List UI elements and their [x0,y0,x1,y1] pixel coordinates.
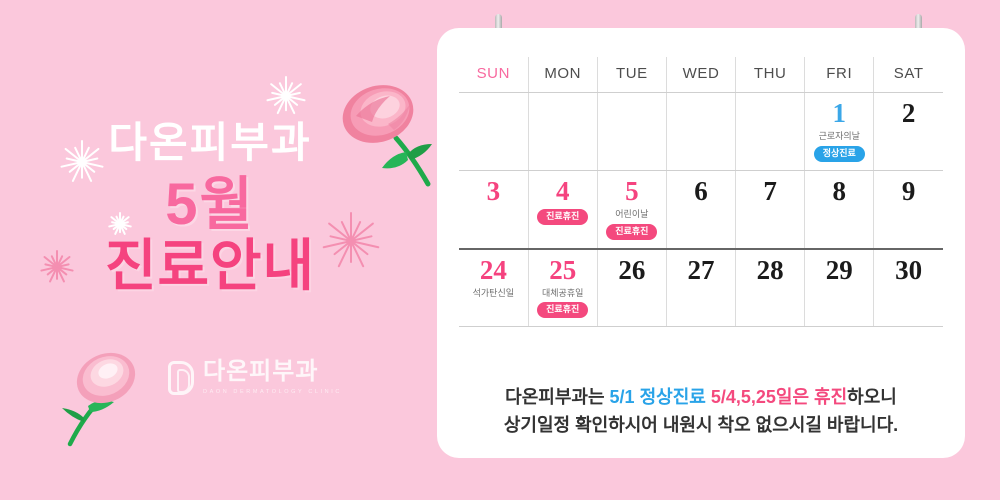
calendar-day-empty [528,93,597,171]
day-holiday-label: 석가탄신일 [459,289,528,299]
calendar-day-3[interactable]: 3 [459,171,528,249]
calendar-day-30[interactable]: 30 [874,249,943,327]
calendar-card: SUNMONTUEWEDTHUFRISAT 1근로자의날정상진료234진료휴진5… [437,28,965,458]
day-number: 29 [805,257,873,284]
weekday-thu: THU [736,57,805,93]
schedule-note: 다온피부과는 5/1 정상진료 5/4,5,25일은 휴진하오니 상기일정 확인… [459,384,943,440]
clinic-logo: 다온피부과 DAON DERMATOLOGY CLINIC [168,360,342,395]
month-title: 5월 [0,172,420,239]
logo-text: 다온피부과 DAON DERMATOLOGY CLINIC [203,360,342,395]
title-block: 다온피부과 5월 진료안내 [0,120,420,296]
calendar-day-1[interactable]: 1근로자의날정상진료 [805,93,874,171]
calendar-day-6[interactable]: 6 [666,171,735,249]
day-number: 8 [805,178,873,205]
calendar-day-5[interactable]: 5어린이날진료휴진 [597,171,666,249]
calendar-week-row: 24석가탄신일25대체공휴일진료휴진2627282930 [459,249,943,327]
calendar-day-empty [666,93,735,171]
d-monogram-icon [168,361,194,395]
weekday-fri: FRI [805,57,874,93]
weekday-mon: MON [528,57,597,93]
calendar-day-24[interactable]: 24석가탄신일 [459,249,528,327]
day-number: 5 [598,178,666,205]
day-number: 6 [667,178,735,205]
day-number: 1 [805,100,873,127]
day-number: 26 [598,257,666,284]
carnation-bud [44,344,144,454]
poster-stage: 다온피부과 5월 진료안내 다온피부과 DAON DERMATOLOGY CLI… [0,0,1000,500]
calendar-day-29[interactable]: 29 [805,249,874,327]
day-holiday-label: 근로자의날 [805,132,873,142]
calendar-day-empty [459,93,528,171]
status-badge: 정상진료 [814,146,865,162]
weekday-header-row: SUNMONTUEWEDTHUFRISAT [459,57,943,93]
calendar-day-8[interactable]: 8 [805,171,874,249]
status-badge: 진료휴진 [606,224,657,240]
weekday-tue: TUE [597,57,666,93]
logo-tagline: DAON DERMATOLOGY CLINIC [203,389,342,395]
calendar: SUNMONTUEWEDTHUFRISAT 1근로자의날정상진료234진료휴진5… [459,57,943,327]
note-text-tail: 하오니 [847,387,897,407]
calendar-day-9[interactable]: 9 [874,171,943,249]
status-badge: 진료휴진 [537,209,588,225]
guide-title: 진료안내 [0,235,420,297]
calendar-week-row: 1근로자의날정상진료2 [459,93,943,171]
note-highlight-open: 5/1 정상진료 [610,387,706,407]
status-badge: 진료휴진 [537,302,588,318]
weekday-sat: SAT [874,57,943,93]
day-number: 30 [874,257,943,284]
day-number: 9 [874,178,943,205]
day-holiday-label: 어린이날 [598,210,666,220]
logo-name: 다온피부과 [203,360,342,384]
day-number: 27 [667,257,735,284]
calendar-day-4[interactable]: 4진료휴진 [528,171,597,249]
note-highlight-closed: 5/4,5,25일은 휴진 [711,387,847,407]
calendar-week-row: 34진료휴진5어린이날진료휴진6789 [459,171,943,249]
day-number: 7 [736,178,804,205]
day-number: 3 [459,178,528,205]
day-number: 2 [874,100,943,127]
note-line-1: 다온피부과는 5/1 정상진료 5/4,5,25일은 휴진하오니 [459,384,943,412]
clinic-name-title: 다온피부과 [0,120,420,166]
note-line-2: 상기일정 확인하시어 내원시 착오 없으시길 바랍니다. [459,412,943,440]
calendar-day-2[interactable]: 2 [874,93,943,171]
weekday-wed: WED [666,57,735,93]
note-text: 다온피부과는 [505,387,609,407]
calendar-day-7[interactable]: 7 [736,171,805,249]
calendar-day-empty [736,93,805,171]
day-number: 24 [459,257,528,284]
day-holiday-label: 대체공휴일 [529,289,597,299]
calendar-day-empty [597,93,666,171]
day-number: 4 [529,178,597,205]
calendar-grid: SUNMONTUEWEDTHUFRISAT 1근로자의날정상진료234진료휴진5… [459,57,943,327]
calendar-day-28[interactable]: 28 [736,249,805,327]
calendar-day-27[interactable]: 27 [666,249,735,327]
calendar-day-25[interactable]: 25대체공휴일진료휴진 [528,249,597,327]
starburst-sparkle [266,76,306,116]
calendar-day-26[interactable]: 26 [597,249,666,327]
weekday-sun: SUN [459,57,528,93]
day-number: 28 [736,257,804,284]
day-number: 25 [529,257,597,284]
